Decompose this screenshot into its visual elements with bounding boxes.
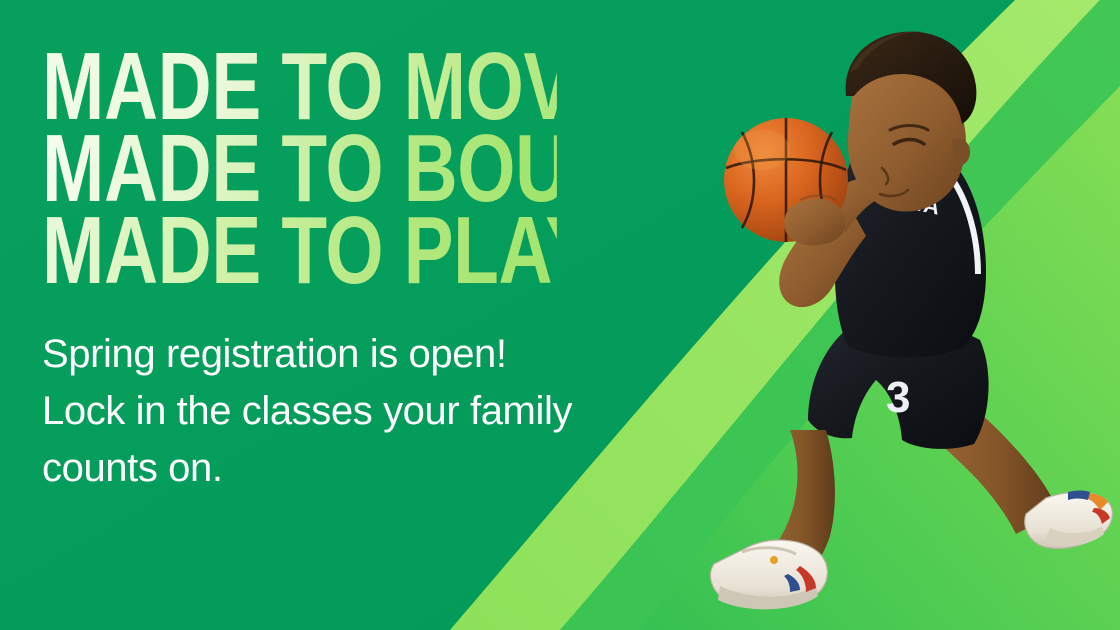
subheadline: Spring registration is open! Lock in the…	[42, 292, 692, 496]
headline-line-3: MADE TO PLAY.	[42, 210, 557, 292]
headline: MADE TO MOVE. MADE TO BOUNCE. MADE TO PL…	[42, 46, 702, 292]
subheadline-line-3: counts on.	[42, 440, 692, 497]
promo-banner: 3 HA	[0, 0, 1120, 630]
copy-block: MADE TO MOVE. MADE TO BOUNCE. MADE TO PL…	[42, 46, 702, 497]
subheadline-line-1: Spring registration is open!	[42, 326, 692, 383]
subheadline-line-2: Lock in the classes your family	[42, 383, 692, 440]
